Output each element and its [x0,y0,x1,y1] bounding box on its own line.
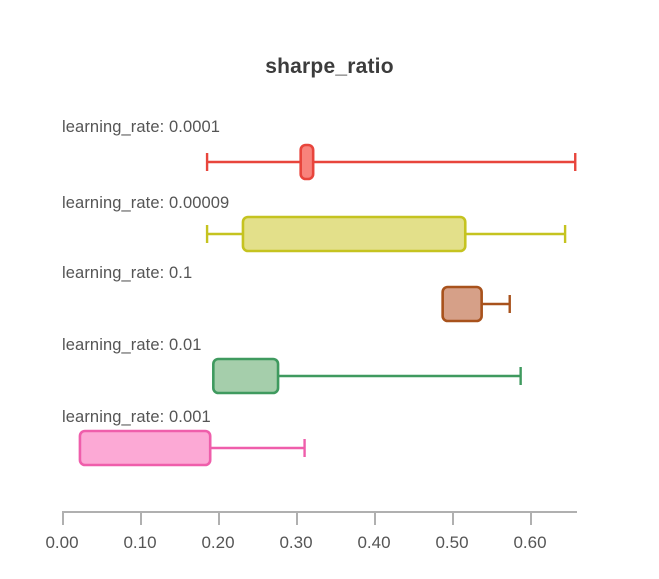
box-plot-row-4 [80,431,305,465]
x-axis-tick-label-5: 0.50 [435,533,468,553]
box-0 [301,145,313,179]
x-axis-tick-label-4: 0.40 [357,533,390,553]
box-2 [443,287,482,321]
box-plot-row-0 [207,145,575,179]
x-axis-tick-4 [374,512,376,525]
facet-label-0: learning_rate: 0.0001 [62,118,220,137]
x-axis-tick-label-1: 0.10 [123,533,156,553]
x-axis-tick-label-0: 0.00 [45,533,78,553]
facet-label-2: learning_rate: 0.1 [62,264,192,283]
x-axis-tick-label-2: 0.20 [201,533,234,553]
x-axis-tick-1 [140,512,142,525]
x-axis-tick-3 [296,512,298,525]
box-plot-row-1 [207,217,565,251]
x-axis-tick-2 [218,512,220,525]
x-axis-tick-label-6: 0.60 [513,533,546,553]
box-4 [80,431,210,465]
facet-label-4: learning_rate: 0.001 [62,408,211,427]
plot-area [0,0,659,579]
box-plot-chart: sharpe_ratio learning_rate: 0.0001learni… [0,0,659,579]
box-plot-row-3 [213,359,520,393]
page-title: sharpe_ratio [0,55,659,79]
box-3 [213,359,278,393]
box-plot-row-2 [443,287,510,321]
x-axis-tick-6 [530,512,532,525]
facet-label-1: learning_rate: 0.00009 [62,194,229,213]
x-axis-tick-5 [452,512,454,525]
x-axis-tick-label-3: 0.30 [279,533,312,553]
box-1 [243,217,465,251]
x-axis-tick-0 [62,512,64,525]
facet-label-3: learning_rate: 0.01 [62,336,202,355]
